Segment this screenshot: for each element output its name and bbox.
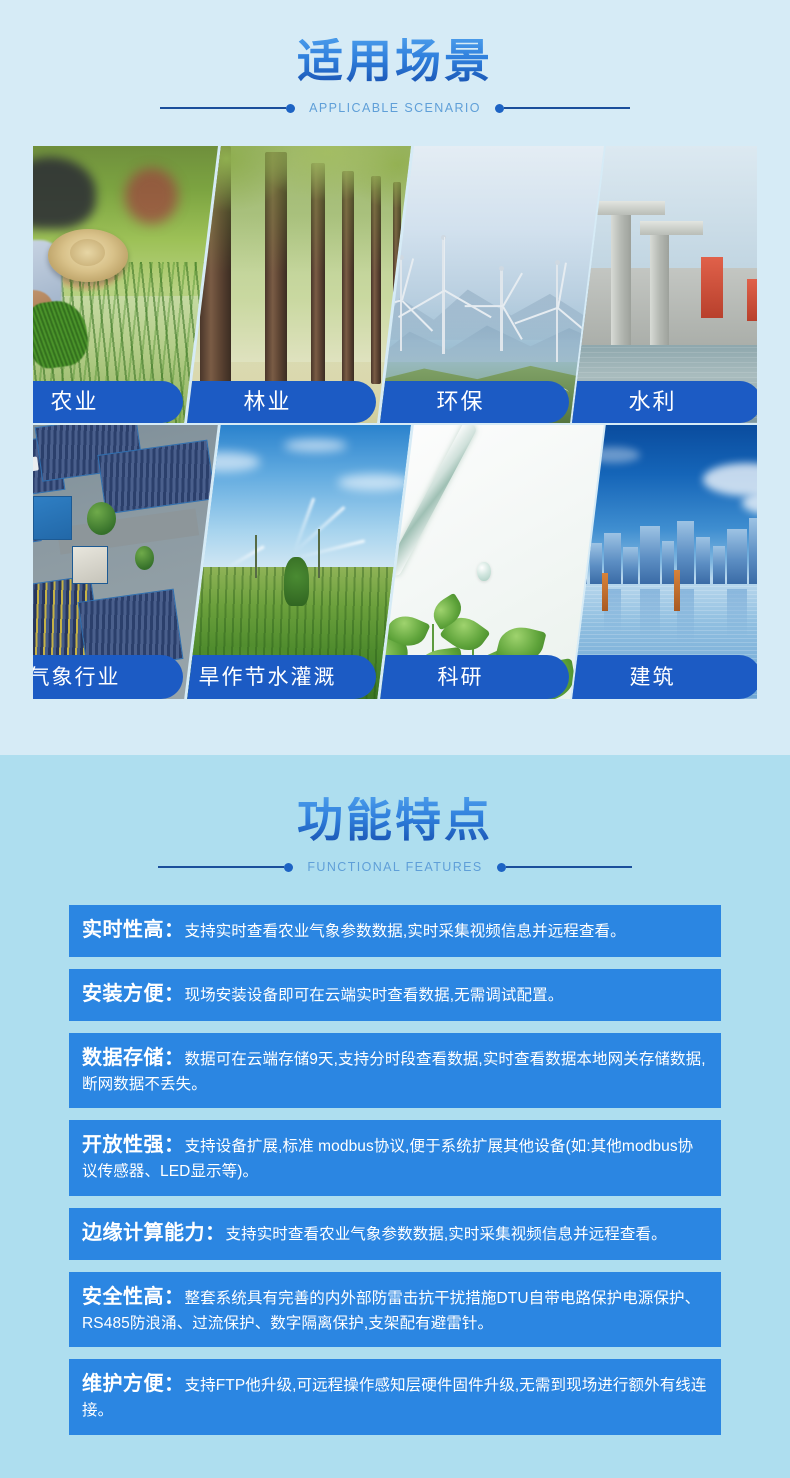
scenario-section: 适用场景 APPLICABLE SCENARIO bbox=[0, 0, 790, 755]
divider-right-dot bbox=[497, 863, 506, 872]
feature-key: 边缘计算能力： bbox=[82, 1222, 226, 1244]
scenario-row-1: 农业 林业 bbox=[33, 146, 757, 423]
features-subtitle: FUNCTIONAL FEATURES bbox=[293, 860, 496, 874]
page-root: 适用场景 APPLICABLE SCENARIO bbox=[0, 0, 790, 1478]
scenario-label-pill: 旱作节水灌溉 bbox=[187, 655, 376, 699]
scenario-tile-construction[interactable]: 建筑 bbox=[572, 425, 757, 699]
scenario-tile-forestry[interactable]: 林业 bbox=[187, 146, 411, 423]
scenario-label-pill: 建筑 bbox=[572, 655, 757, 699]
feature-item: 边缘计算能力：支持实时查看农业气象参数数据,实时采集视频信息并远程查看。 bbox=[69, 1208, 721, 1260]
divider-right-bar bbox=[506, 866, 632, 868]
scenario-tile-label: 环保 bbox=[436, 391, 484, 413]
scenario-header: 适用场景 APPLICABLE SCENARIO bbox=[0, 0, 790, 115]
feature-key: 开放性强： bbox=[82, 1134, 185, 1156]
scenario-tile-agriculture[interactable]: 农业 bbox=[33, 146, 218, 423]
scenario-tile-label: 旱作节水灌溉 bbox=[198, 667, 336, 688]
divider-left-dot bbox=[286, 104, 295, 113]
scenario-tile-label: 气象行业 bbox=[33, 667, 120, 688]
divider-left-bar bbox=[160, 107, 286, 109]
scenario-tile-label: 水利 bbox=[629, 391, 677, 413]
features-header: 功能特点 FUNCTIONAL FEATURES bbox=[0, 755, 790, 874]
scenario-tile-label: 建筑 bbox=[630, 667, 676, 688]
feature-item: 维护方便：支持FTP他升级,可远程操作感知层硬件固件升级,无需到现场进行额外有线… bbox=[69, 1359, 721, 1434]
feature-key: 安装方便： bbox=[82, 983, 185, 1005]
scenario-tile-water-conservancy[interactable]: 水利 bbox=[572, 146, 757, 423]
feature-key: 安全性高： bbox=[82, 1286, 185, 1308]
features-title: 功能特点 bbox=[297, 797, 493, 843]
scenario-label-pill: 农业 bbox=[33, 381, 183, 423]
scenario-label-pill: 水利 bbox=[572, 381, 757, 423]
scenario-tile-dry-farming-irrigation[interactable]: 旱作节水灌溉 bbox=[187, 425, 410, 699]
scenario-subtitle: APPLICABLE SCENARIO bbox=[295, 101, 495, 115]
divider-right-bar bbox=[504, 107, 630, 109]
scenario-tile-label: 林业 bbox=[243, 391, 291, 413]
feature-item: 安全性高：整套系统具有完善的内外部防雷击抗干扰措施DTU自带电路保护电源保护、R… bbox=[69, 1272, 721, 1347]
scenario-row-2: 气象行业 bbox=[33, 425, 757, 699]
feature-value: 支持实时查看农业气象参数数据,实时采集视频信息并远程查看。 bbox=[185, 923, 626, 940]
scenario-tile-environment[interactable]: 环保 bbox=[379, 146, 603, 423]
scenario-grid: 农业 林业 bbox=[33, 146, 757, 699]
scenario-tile-label: 科研 bbox=[437, 667, 483, 688]
scenario-tile-research[interactable]: 科研 bbox=[380, 425, 603, 699]
scenario-label-pill: 环保 bbox=[379, 381, 568, 423]
divider-left bbox=[160, 104, 295, 113]
divider-right-dot bbox=[495, 104, 504, 113]
feature-key: 数据存储： bbox=[82, 1047, 185, 1069]
feature-value: 现场安装设备即可在云端实时查看数据,无需调试配置。 bbox=[185, 987, 564, 1004]
feature-value: 支持实时查看农业气象参数数据,实时采集视频信息并远程查看。 bbox=[226, 1226, 667, 1243]
feature-item: 数据存储：数据可在云端存储9天,支持分时段查看数据,实时查看数据本地网关存储数据… bbox=[69, 1033, 721, 1108]
features-subtitle-row: FUNCTIONAL FEATURES bbox=[0, 860, 790, 874]
divider-left bbox=[158, 863, 293, 872]
divider-right bbox=[495, 104, 630, 113]
feature-key: 实时性高： bbox=[82, 919, 185, 941]
skyline bbox=[572, 518, 757, 584]
divider-left-bar bbox=[158, 866, 284, 868]
scenario-label-pill: 气象行业 bbox=[33, 655, 183, 699]
feature-item: 实时性高：支持实时查看农业气象参数数据,实时采集视频信息并远程查看。 bbox=[69, 905, 721, 957]
feature-key: 维护方便： bbox=[82, 1373, 185, 1395]
divider-left-dot bbox=[284, 863, 293, 872]
feature-item: 开放性强：支持设备扩展,标准 modbus协议,便于系统扩展其他设备(如:其他m… bbox=[69, 1120, 721, 1195]
feature-item: 安装方便：现场安装设备即可在云端实时查看数据,无需调试配置。 bbox=[69, 969, 721, 1021]
scenario-label-pill: 林业 bbox=[187, 381, 376, 423]
scenario-title: 适用场景 bbox=[297, 38, 493, 84]
divider-right bbox=[497, 863, 632, 872]
scenario-subtitle-row: APPLICABLE SCENARIO bbox=[0, 101, 790, 115]
scenario-tile-label: 农业 bbox=[50, 391, 98, 413]
features-list: 实时性高：支持实时查看农业气象参数数据,实时采集视频信息并远程查看。 安装方便：… bbox=[69, 905, 721, 1447]
scenario-label-pill: 科研 bbox=[380, 655, 569, 699]
scenario-tile-meteorology[interactable]: 气象行业 bbox=[33, 425, 218, 699]
